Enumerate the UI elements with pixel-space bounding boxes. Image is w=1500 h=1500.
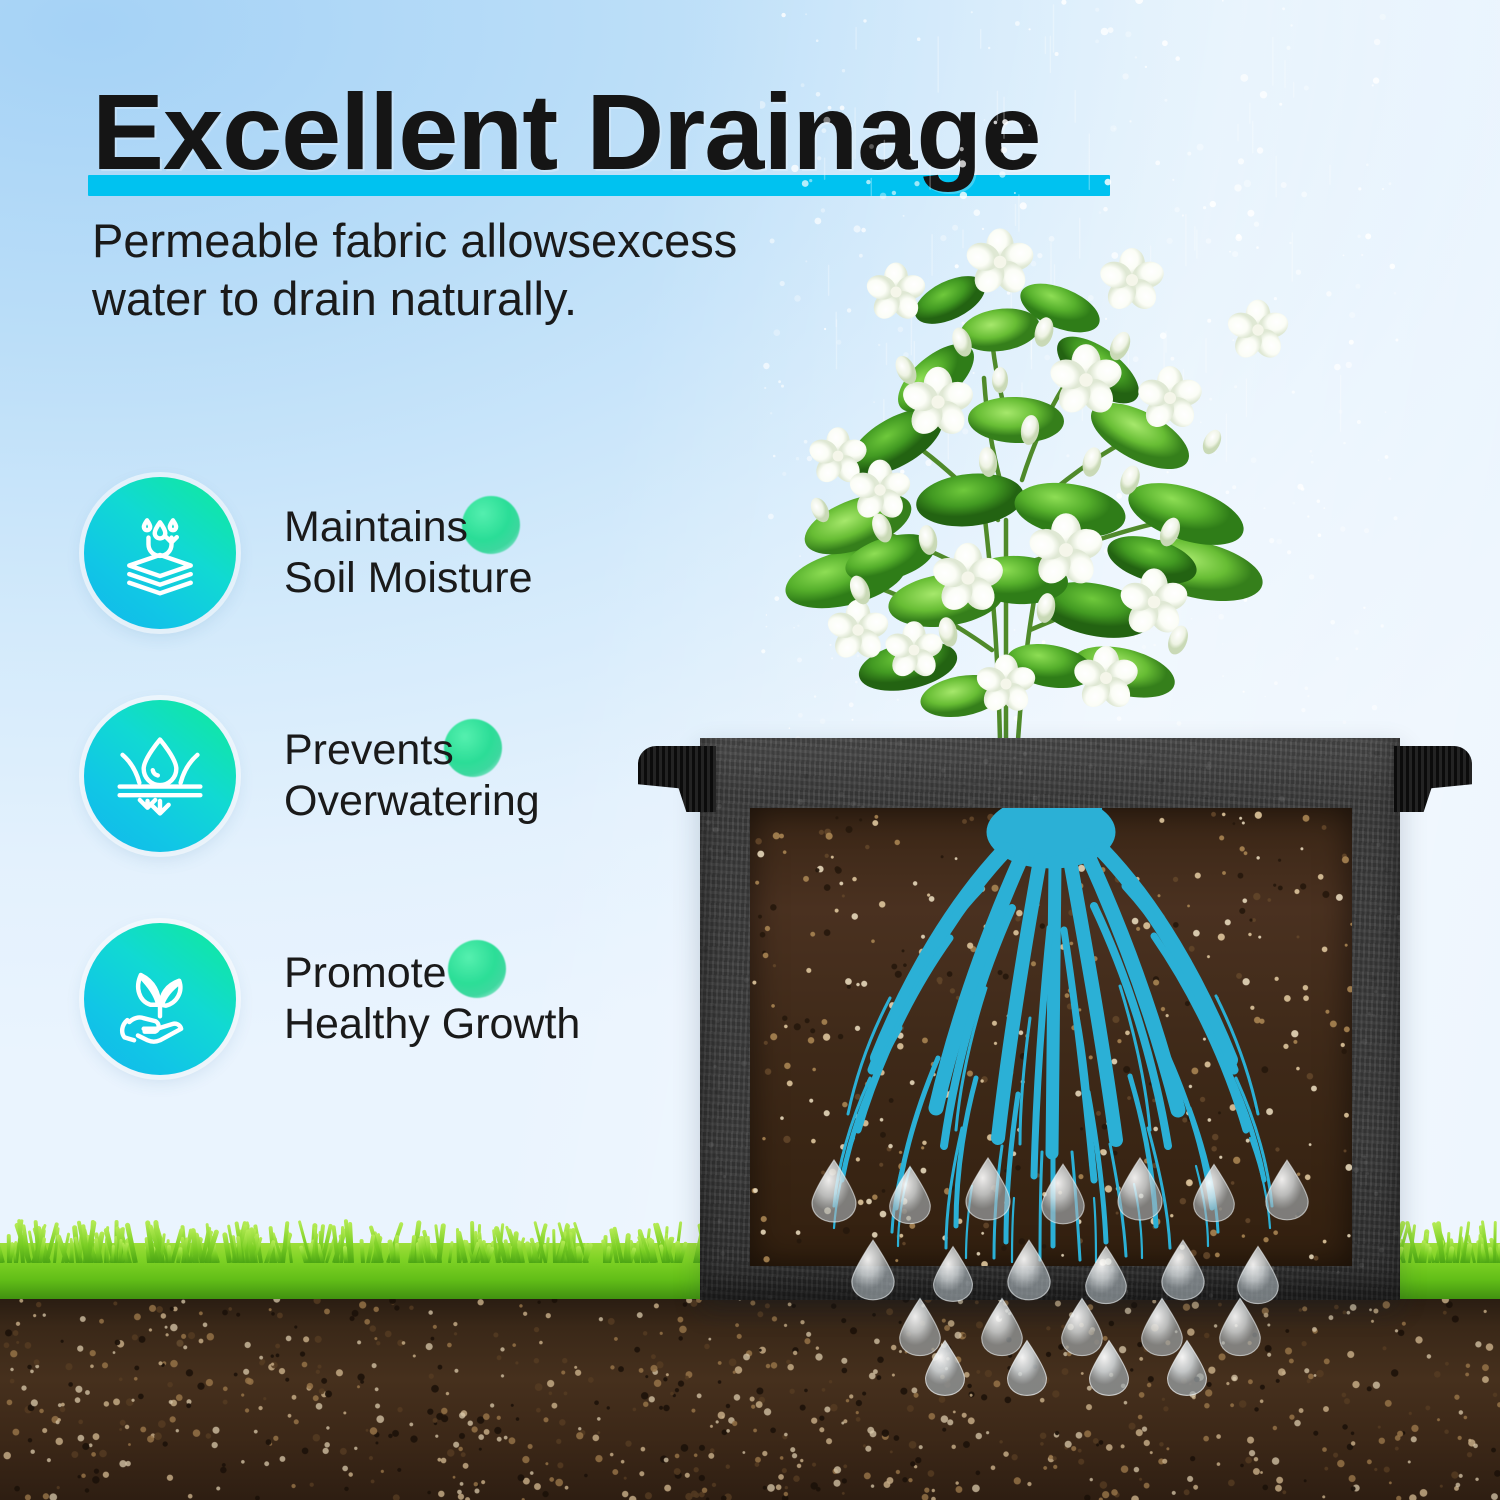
infographic-canvas: Excellent Drainage Permeable fabric allo…	[0, 0, 1500, 1500]
page-title: Excellent Drainage	[92, 78, 1192, 186]
feature-label: Prevents Overwatering	[284, 725, 540, 826]
feature-label: Maintains Soil Moisture	[284, 502, 533, 603]
feature-item-prevents-overwatering: Prevents Overwatering	[84, 701, 644, 851]
feature-item-maintains-soil-moisture: Maintains Soil Moisture	[84, 478, 644, 628]
jasmine-plant-image	[700, 180, 1320, 760]
feature-icon-badge	[84, 700, 236, 852]
feature-label-line-2: Healthy Growth	[284, 999, 580, 1050]
feature-icon-badge	[84, 923, 236, 1075]
feature-list: Maintains Soil Moisture	[84, 478, 644, 1074]
feature-label-line-2: Soil Moisture	[284, 553, 533, 604]
water-drop-membrane-icon	[112, 728, 208, 824]
root-system-diagram	[750, 808, 1352, 1266]
hand-sprout-icon	[112, 951, 208, 1047]
feature-label: Promote Healthy Growth	[284, 948, 580, 1049]
feature-label-line-2: Overwatering	[284, 776, 540, 827]
ground-soil-layer	[0, 1299, 1500, 1500]
feature-label-line-1: Promote	[284, 948, 580, 999]
feature-item-promote-healthy-growth: Promote Healthy Growth	[84, 924, 644, 1074]
feature-label-line-1: Maintains	[284, 502, 533, 553]
grow-bag-fabric	[700, 738, 1400, 1300]
feature-label-line-1: Prevents	[284, 725, 540, 776]
feature-icon-badge	[84, 477, 236, 629]
ground-soil-texture	[0, 1299, 1500, 1500]
water-layers-icon	[112, 505, 208, 601]
grow-bag	[660, 700, 1450, 1300]
